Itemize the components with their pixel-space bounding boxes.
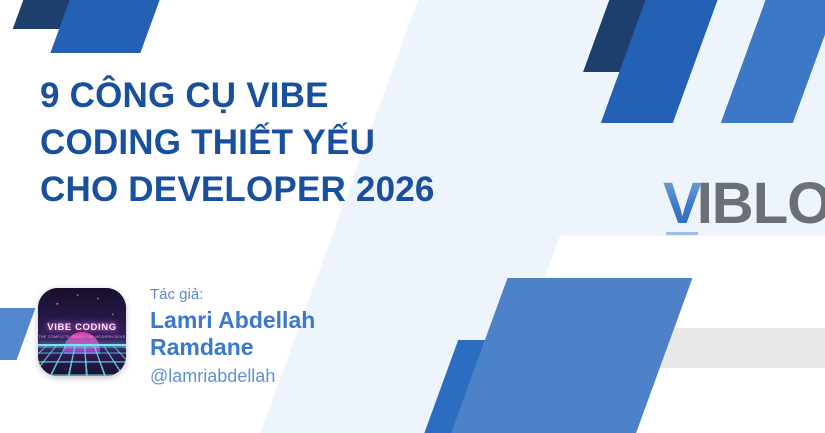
decoration-parallelogram-top-right-blue [601, 0, 721, 123]
title-line-1: 9 CÔNG CỤ VIBE [40, 72, 580, 119]
decoration-parallelogram-top-left-navy [13, 0, 114, 29]
title-line-3: CHO DEVELOPER 2026 [40, 166, 580, 213]
avatar-neon-grid [38, 344, 126, 376]
avatar-title-text: VIBE CODING [38, 322, 126, 333]
author-name-line-1: Lamri Abdellah [150, 307, 315, 334]
decoration-parallelogram-top-right-light [721, 0, 825, 123]
author-handle[interactable]: @lamriabdellah [150, 363, 315, 389]
decoration-parallelogram-top-right-navy [583, 0, 671, 72]
viblo-banner: 9 CÔNG CỤ VIBE CODING THIẾT YẾU CHO DEVE… [0, 0, 825, 433]
viblo-logo-v-mark: V [663, 175, 701, 233]
title-line-2: CODING THIẾT YẾU [40, 119, 580, 166]
author-row: VIBE CODING THE COMPLETE GUIDE FOR MODER… [38, 284, 315, 389]
avatar-subtitle-text: THE COMPLETE GUIDE FOR MODERN DEVS [38, 335, 126, 339]
author-details: Tác giả: Lamri Abdellah Ramdane @lamriab… [150, 284, 315, 389]
viblo-logo-letter-v: V [663, 171, 701, 236]
author-name-line-2: Ramdane [150, 334, 315, 361]
viblo-logo-underline [666, 232, 698, 235]
viblo-logo-wordmark: IBLO [697, 175, 825, 233]
banner-title: 9 CÔNG CỤ VIBE CODING THIẾT YẾU CHO DEVE… [40, 72, 580, 213]
decoration-parallelogram-left-edge [0, 308, 35, 360]
decoration-parallelogram-top-left-blue [50, 0, 159, 53]
avatar[interactable]: VIBE CODING THE COMPLETE GUIDE FOR MODER… [38, 288, 126, 376]
background-white-wedge-right [480, 236, 825, 433]
author-label: Tác giả: [150, 284, 315, 306]
viblo-logo[interactable]: V IBLO [663, 175, 825, 233]
